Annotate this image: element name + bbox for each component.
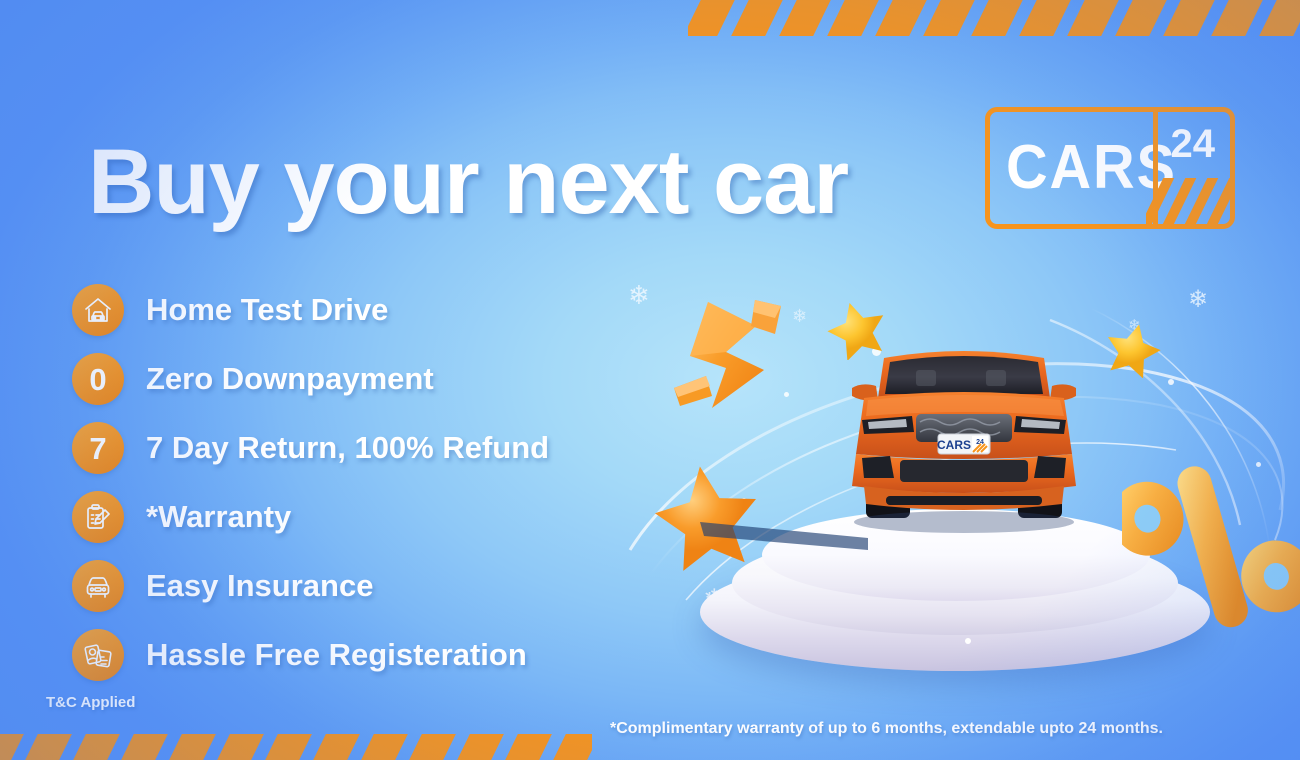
warranty-disclaimer: *Complimentary warranty of up to 6 month… — [610, 720, 1163, 738]
feature-item-easy-insurance[interactable]: Easy Insurance — [72, 552, 549, 620]
feature-label: Hassle Free Registeration — [146, 637, 527, 673]
terms-note: T&C Applied — [46, 694, 135, 711]
zero-number-icon: 0 — [72, 353, 124, 405]
lightning-fragment-icon — [668, 372, 716, 412]
feature-list: Home Test Drive 0 Zero Downpayment 7 7 D… — [72, 276, 549, 690]
feature-item-seven-day-return[interactable]: 7 7 Day Return, 100% Refund — [72, 414, 549, 482]
star-3d-yellow-icon — [1104, 320, 1162, 378]
feature-label: *Warranty — [146, 499, 291, 535]
snowflake-icon: ❄ — [792, 307, 807, 325]
podium-sparkle-dot — [965, 638, 971, 644]
feature-item-hassle-free-registration[interactable]: Hassle Free Registeration — [72, 621, 549, 689]
car-front-icon — [72, 560, 124, 612]
feature-number: 7 — [89, 433, 106, 464]
feature-number: 0 — [89, 364, 106, 395]
snowflake-icon: ❄ — [628, 282, 650, 308]
logo-hazard-stripes — [1146, 178, 1230, 224]
feature-label: Home Test Drive — [146, 292, 388, 328]
sparkle-dot — [1168, 379, 1174, 385]
snowflake-icon: ❄ — [1188, 288, 1208, 312]
home-garage-car-icon — [72, 284, 124, 336]
feature-item-warranty[interactable]: *Warranty — [72, 483, 549, 551]
page-title: Buy your next car — [88, 136, 848, 228]
license-plate: CARS 24 — [937, 434, 990, 454]
car-front-illustration: CARS 24 — [838, 336, 1090, 536]
feature-item-zero-downpayment[interactable]: 0 Zero Downpayment — [72, 345, 549, 413]
clipboard-pencil-icon — [72, 491, 124, 543]
documents-cards-icon — [72, 629, 124, 681]
hazard-stripes-bottom — [0, 734, 592, 760]
feature-label: 7 Day Return, 100% Refund — [146, 430, 549, 466]
feature-item-home-test-drive[interactable]: Home Test Drive — [72, 276, 549, 344]
hazard-stripes-top — [688, 0, 1300, 36]
svg-text:CARS: CARS — [937, 438, 971, 452]
logo-number: 24 — [1171, 124, 1216, 164]
seven-number-icon: 7 — [72, 422, 124, 474]
feature-label: Zero Downpayment — [146, 361, 434, 397]
feature-label: Easy Insurance — [146, 568, 373, 604]
cars24-logo: CARS 24 — [985, 107, 1235, 229]
percent-sign-3d-icon — [1122, 458, 1300, 638]
lightning-fragment-icon — [745, 296, 789, 338]
banner-canvas: ❄ ❄ ❄ ❄ ❄ ❄ — [0, 0, 1300, 760]
